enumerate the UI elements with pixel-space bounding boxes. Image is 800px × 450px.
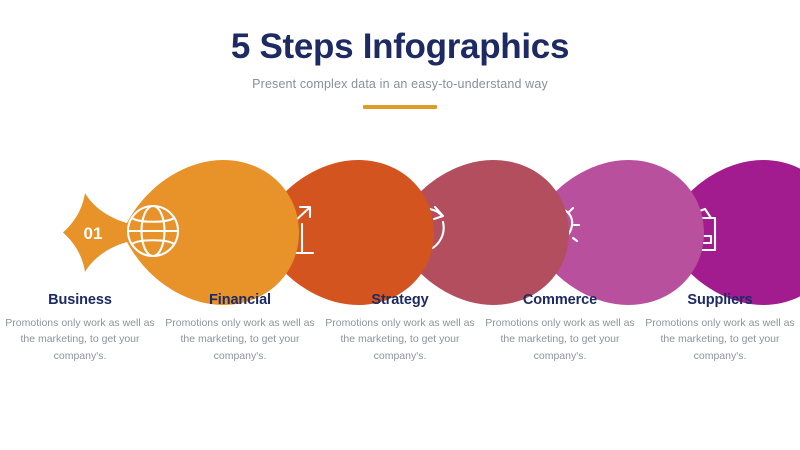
infographic-slide: 5 Steps Infographics Present complex dat… — [0, 0, 800, 450]
caption-body-3: Promotions only work as well as the mark… — [324, 315, 476, 364]
header: 5 Steps Infographics Present complex dat… — [0, 28, 800, 109]
page-title: 5 Steps Infographics — [0, 28, 800, 67]
caption-title-5: Suppliers — [644, 292, 796, 308]
steps-graphic: 05 04 — [0, 160, 800, 305]
caption-body-5: Promotions only work as well as the mark… — [644, 315, 796, 364]
captions-row: Business Promotions only work as well as… — [0, 292, 800, 364]
step-number-1: 01 — [84, 224, 103, 243]
accent-divider — [363, 105, 437, 109]
page-subtitle: Present complex data in an easy-to-under… — [0, 77, 800, 91]
caption-title-4: Commerce — [484, 292, 636, 308]
caption-body-4: Promotions only work as well as the mark… — [484, 315, 636, 364]
caption-4: Commerce Promotions only work as well as… — [480, 292, 640, 364]
caption-title-3: Strategy — [324, 292, 476, 308]
caption-1: Business Promotions only work as well as… — [0, 292, 160, 364]
caption-5: Suppliers Promotions only work as well a… — [640, 292, 800, 364]
caption-body-1: Promotions only work as well as the mark… — [4, 315, 156, 364]
caption-body-2: Promotions only work as well as the mark… — [164, 315, 316, 364]
step-shape-1[interactable]: 01 — [63, 160, 299, 305]
caption-2: Financial Promotions only work as well a… — [160, 292, 320, 364]
caption-title-1: Business — [4, 292, 156, 308]
caption-3: Strategy Promotions only work as well as… — [320, 292, 480, 364]
caption-title-2: Financial — [164, 292, 316, 308]
